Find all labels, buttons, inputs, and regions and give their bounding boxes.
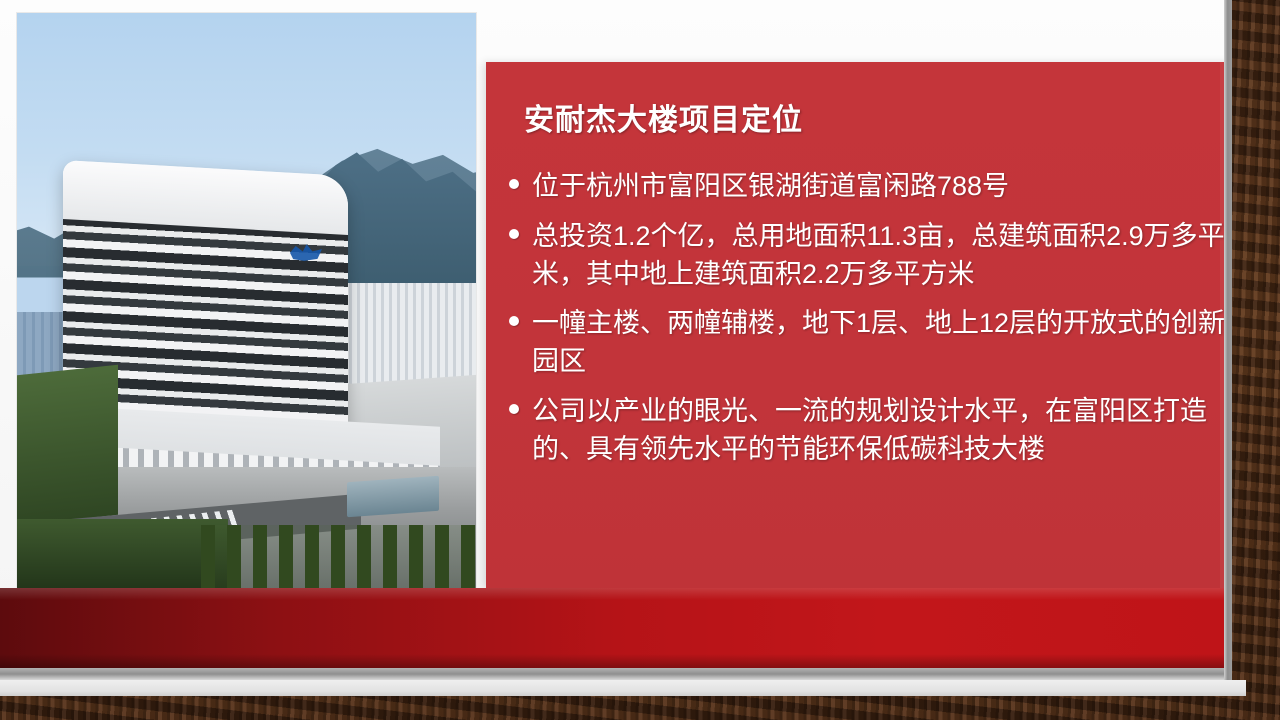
banner-shade [0, 654, 1231, 668]
bullet-item-2: 总投资1.2个亿，总用地面积11.3亩，总建筑面积2.9万多平方米，其中地上建筑… [500, 218, 1231, 294]
building-photo [17, 13, 476, 588]
bullet-item-3: 一幢主楼、两幢辅楼，地下1层、地上12层的开放式的创新型园区 [500, 305, 1231, 381]
bullet-text: 总投资1.2个亿，总用地面积11.3亩，总建筑面积2.9万多平方米，其中地上建筑… [532, 221, 1231, 289]
slide-frame-bottom [0, 668, 1231, 680]
tree-row [201, 525, 476, 588]
banner-gloss [0, 588, 1231, 600]
bullet-dot-icon [509, 404, 519, 414]
slide-frame-right [1224, 0, 1232, 688]
bullet-dot-icon [509, 229, 519, 239]
slide-viewer: 安耐杰大楼项目定位 位于杭州市富阳区银湖街道富闲路788号 总投资1.2个亿，总… [0, 0, 1280, 720]
slide-frame-shadow [0, 680, 1246, 696]
bullet-list: 位于杭州市富阳区银湖街道富闲路788号 总投资1.2个亿，总用地面积11.3亩，… [500, 168, 1231, 481]
lawn-left [17, 364, 118, 524]
content-panel: 安耐杰大楼项目定位 位于杭州市富阳区银湖街道富闲路788号 总投资1.2个亿，总… [486, 62, 1231, 588]
bullet-item-1: 位于杭州市富阳区银湖街道富闲路788号 [500, 168, 1231, 206]
slide-title: 安耐杰大楼项目定位 [524, 95, 803, 139]
bullet-dot-icon [509, 179, 519, 189]
bullet-item-4: 公司以产业的眼光、一流的规划设计水平，在富阳区打造的、具有领先水平的节能环保低碳… [500, 393, 1231, 469]
bullet-text: 公司以产业的眼光、一流的规划设计水平，在富阳区打造的、具有领先水平的节能环保低碳… [532, 396, 1207, 464]
bullet-text: 一幢主楼、两幢辅楼，地下1层、地上12层的开放式的创新型园区 [532, 308, 1231, 376]
bullet-dot-icon [509, 316, 519, 326]
presentation-slide: 安耐杰大楼项目定位 位于杭州市富阳区银湖街道富闲路788号 总投资1.2个亿，总… [0, 0, 1231, 695]
bullet-text: 位于杭州市富阳区银湖街道富闲路788号 [532, 171, 1009, 201]
lawn-bottom [17, 519, 228, 588]
bottom-banner [0, 588, 1231, 668]
entrance-canopy [347, 476, 439, 517]
